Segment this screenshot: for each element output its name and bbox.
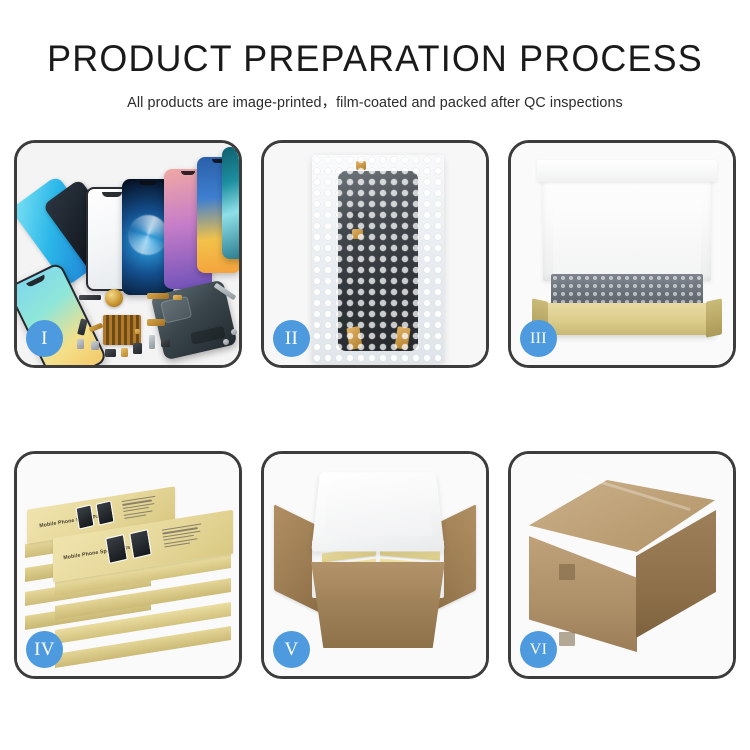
step-badge-2: II	[273, 320, 310, 357]
carton-tape-lower-icon	[559, 632, 575, 646]
carton-front-icon	[302, 562, 454, 648]
phone-front-teal-icon	[222, 147, 239, 259]
product-preparation-page: PRODUCT PREPARATION PROCESS All products…	[0, 0, 750, 750]
carton-tape-upper-icon	[559, 564, 575, 580]
page-subtitle: All products are image-printed，film-coat…	[4, 91, 747, 112]
vibration-motor-icon	[105, 289, 123, 307]
step-badge-5: V	[273, 631, 310, 668]
process-step-card-2: II	[261, 140, 489, 368]
process-step-card-4: Mobile Phone Spare Parts	[14, 451, 242, 679]
process-step-card-6: VI	[508, 451, 736, 679]
page-title: PRODUCT PREPARATION PROCESS	[11, 40, 739, 79]
step-badge-3: III	[520, 320, 557, 357]
foam-open-lid-icon	[311, 472, 444, 551]
process-step-grid: I II	[14, 140, 736, 679]
bubble-wrapped-units-icon	[551, 274, 703, 304]
page-header: PRODUCT PREPARATION PROCESS All products…	[0, 40, 750, 112]
step-badge-4: IV	[26, 631, 63, 668]
step-badge-1: I	[26, 320, 63, 357]
process-step-card-5: V	[261, 451, 489, 679]
process-step-card-3: III	[508, 140, 736, 368]
step-badge-6: VI	[520, 631, 557, 668]
yellow-box-base-icon	[539, 303, 715, 335]
foam-lid-icon	[543, 165, 711, 281]
bubble-wrap-bag-icon	[312, 155, 444, 363]
process-step-card-1: I	[14, 140, 242, 368]
lcd-screen-icon	[338, 171, 418, 351]
